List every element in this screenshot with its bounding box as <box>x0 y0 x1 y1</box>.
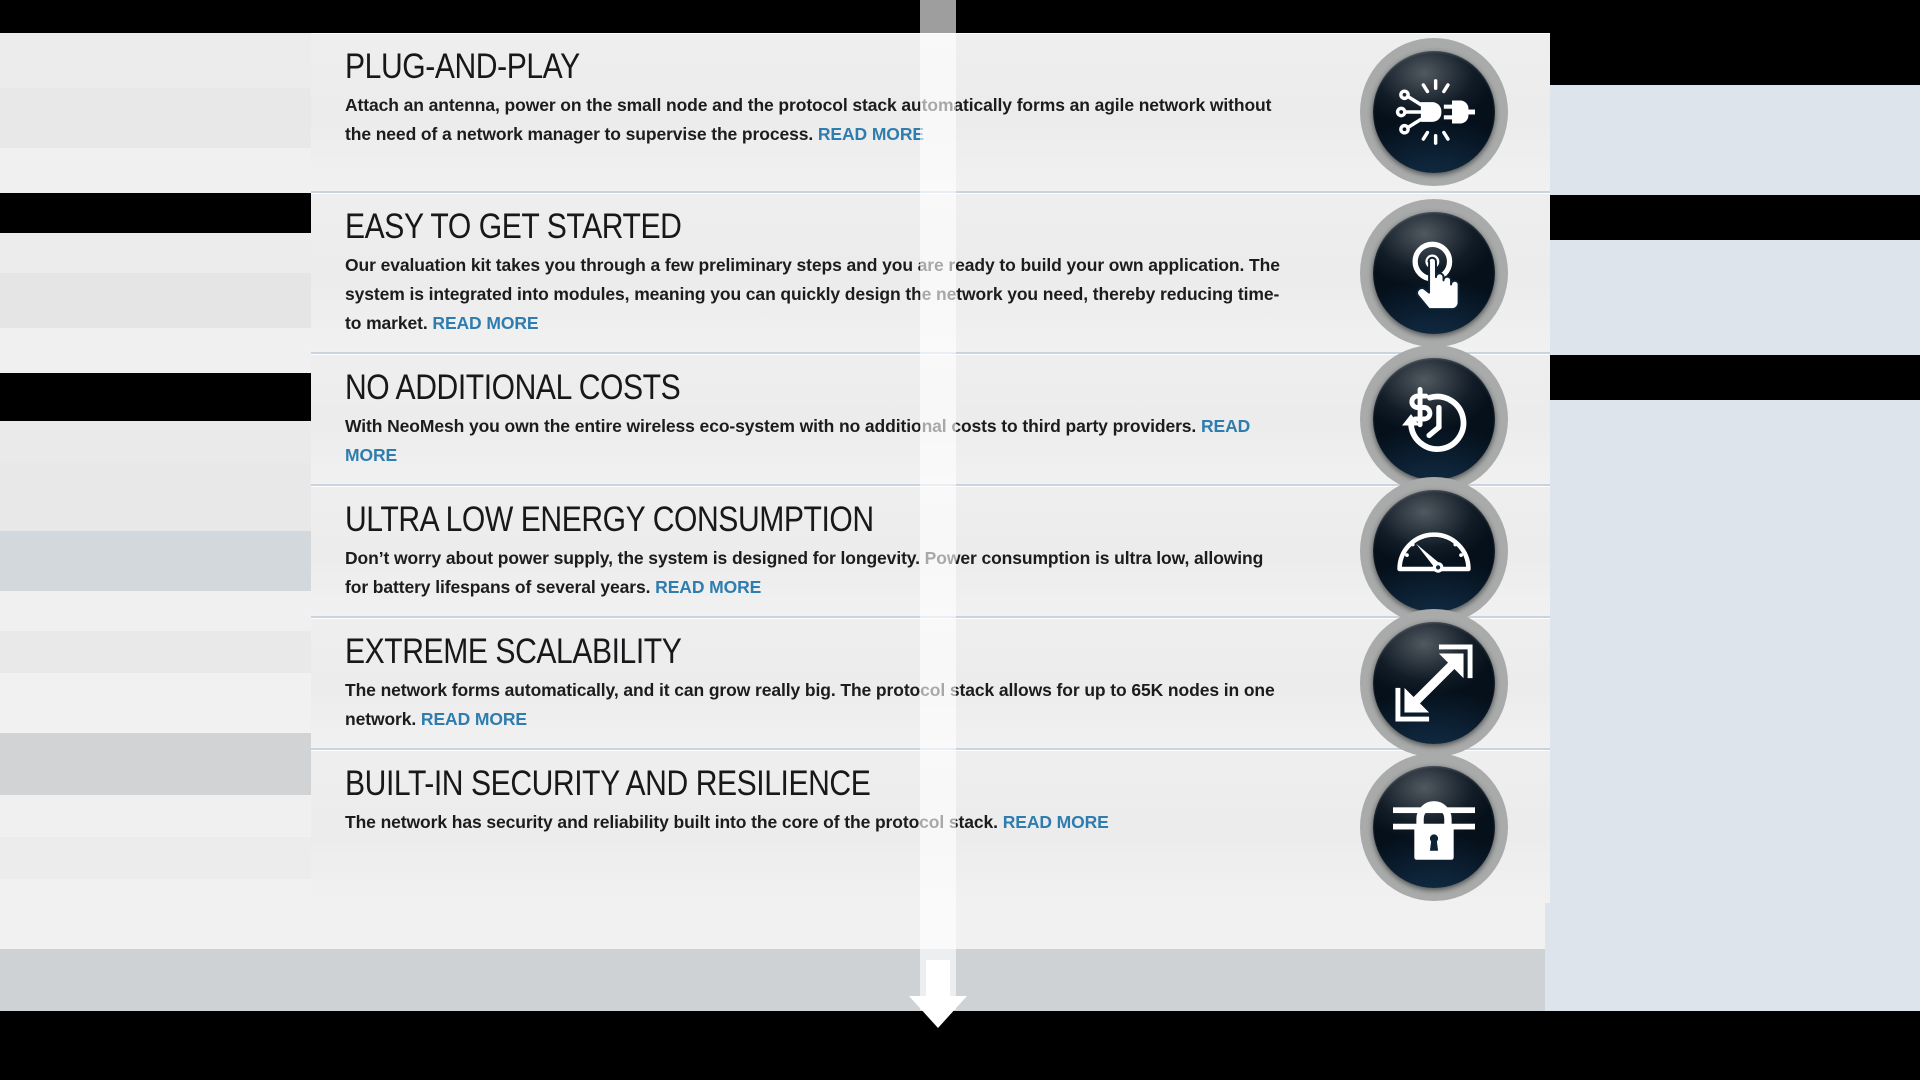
read-more-link[interactable]: READ MORE <box>421 709 527 729</box>
feature-card: NO ADDITIONAL COSTSWith NeoMesh you own … <box>311 352 1550 484</box>
feature-icon-badge <box>1360 753 1508 901</box>
feature-card-list: PLUG-AND-PLAYAttach an antenna, power on… <box>311 33 1550 903</box>
tap-finger-icon <box>1393 232 1475 314</box>
right-panel-band <box>1545 1011 1920 1080</box>
feature-description-text: Attach an antenna, power on the small no… <box>345 95 1271 144</box>
feature-title: EASY TO GET STARTED <box>345 207 1201 247</box>
feature-title: EXTREME SCALABILITY <box>345 632 1201 672</box>
feature-title: ULTRA LOW ENERGY CONSUMPTION <box>345 500 1201 540</box>
feature-icon-disc <box>1373 490 1495 612</box>
feature-icon-badge <box>1360 345 1508 493</box>
feature-icon-disc <box>1373 766 1495 888</box>
right-panel-band <box>1545 530 1920 1011</box>
read-more-link[interactable]: READ MORE <box>1003 812 1109 832</box>
feature-description: Don’t worry about power supply, the syst… <box>345 544 1290 602</box>
feature-description: With NeoMesh you own the entire wireless… <box>345 412 1290 470</box>
right-panel-band <box>1545 240 1920 355</box>
feature-description-text: Don’t worry about power supply, the syst… <box>345 548 1263 597</box>
expand-arrow-icon <box>1393 642 1475 724</box>
right-panel-band <box>1545 40 1920 85</box>
right-panel-band <box>1545 85 1920 195</box>
feature-title: PLUG-AND-PLAY <box>345 47 1201 87</box>
feature-card: EASY TO GET STARTEDOur evaluation kit ta… <box>311 191 1550 352</box>
gauge-icon <box>1393 510 1475 592</box>
feature-icon-disc <box>1373 358 1495 480</box>
feature-description-text: With NeoMesh you own the entire wireless… <box>345 416 1201 436</box>
feature-card: BUILT-IN SECURITY AND RESILIENCEThe netw… <box>311 748 1550 903</box>
feature-title: NO ADDITIONAL COSTS <box>345 368 1201 408</box>
dollar-clock-icon <box>1393 378 1475 460</box>
feature-card: PLUG-AND-PLAYAttach an antenna, power on… <box>311 33 1550 191</box>
feature-title: BUILT-IN SECURITY AND RESILIENCE <box>345 764 1201 804</box>
feature-icon-disc <box>1373 622 1495 744</box>
feature-icon-badge <box>1360 38 1508 186</box>
feature-description: Our evaluation kit takes you through a f… <box>345 251 1290 338</box>
feature-icon-badge <box>1360 477 1508 625</box>
padlock-icon <box>1393 786 1475 868</box>
feature-description-text: The network has security and reliability… <box>345 812 1003 832</box>
feature-icon-disc <box>1373 51 1495 173</box>
right-panel-band <box>1545 400 1920 530</box>
feature-card: ULTRA LOW ENERGY CONSUMPTIONDon’t worry … <box>311 484 1550 616</box>
right-panel-band <box>1545 355 1920 400</box>
feature-description: Attach an antenna, power on the small no… <box>345 91 1290 149</box>
feature-card: EXTREME SCALABILITYThe network forms aut… <box>311 616 1550 748</box>
right-panel-band <box>1545 195 1920 240</box>
read-more-link[interactable]: READ MORE <box>655 577 761 597</box>
right-panel-band <box>1545 0 1920 40</box>
feature-icon-disc <box>1373 212 1495 334</box>
plug-and-socket-icon <box>1393 71 1475 153</box>
read-more-link[interactable]: READ MORE <box>432 313 538 333</box>
feature-description: The network forms automatically, and it … <box>345 676 1290 734</box>
read-more-link[interactable]: READ MORE <box>818 124 924 144</box>
feature-icon-badge <box>1360 199 1508 347</box>
feature-description: The network has security and reliability… <box>345 808 1290 837</box>
feature-icon-badge <box>1360 609 1508 757</box>
